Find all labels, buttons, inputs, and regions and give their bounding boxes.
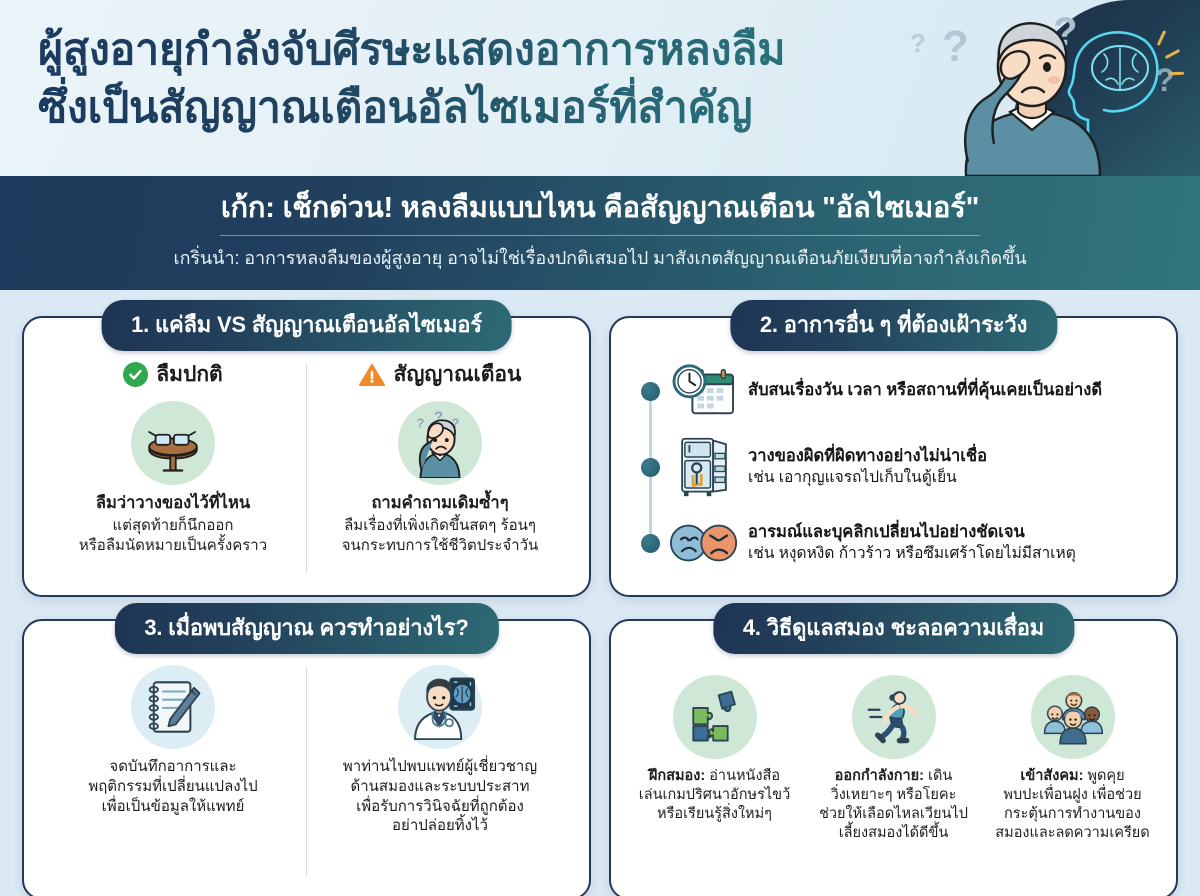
compare-warning-line2: ลืมเรื่องที่เพิ่งเกิดขึ้นสดๆ ร้อนๆ <box>342 516 539 536</box>
headline-banner: เก้ก: เช็กด่วน! หลงลืมแบบไหน คือสัญญาณเต… <box>0 176 1200 290</box>
symptom-sub-3: เช่น หงุดหงิด ก้าวร้าว หรือซึมเศร้าโดยไม… <box>748 544 1076 564</box>
what-to-do-body: จดบันทึกอาการและ พฤติกรรมที่เปลี่ยนแปลงไ… <box>40 655 573 886</box>
mood-faces-icon <box>670 512 738 574</box>
exercise-line2: วิ่งเหยาะๆ หรือโยคะ <box>819 786 968 805</box>
banner-title: เก้ก: เช็กด่วน! หลงลืมแบบไหน คือสัญญาณเต… <box>221 192 979 225</box>
compare-warning-text: ถามคำถามเดิมซ้ำๆ ลืมเรื่องที่เพิ่งเกิดขึ… <box>342 493 539 555</box>
elderly-man-icon <box>942 12 1114 176</box>
confused-elderly-man-icon: ? ? ? <box>398 401 482 485</box>
symptom-main-2: วางของผิดที่ผิดทางอย่างไม่น่าเชื่อ <box>748 446 987 467</box>
list-item: สับสนเรื่องวัน เวลา หรือสถานที่ที่คุ้นเค… <box>637 360 1154 422</box>
section-card-what-to-do: 3. เมื่อพบสัญญาณ ควรทำอย่างไร? <box>22 619 591 896</box>
exercise-keyword: ออกกำลังกาย: <box>835 768 924 784</box>
exercise-line4: เลี้ยงสมองได้ดีขึ้น <box>819 824 968 843</box>
compare-column-normal: ลืมปกติ ลืมว่าวางของไว้ที่ไหน <box>40 358 306 583</box>
banner-subtitle: เกริ่นนำ: อาการหลงลืมของผู้สูงอายุ อาจไม… <box>174 243 1027 272</box>
compare-normal-line2: แต่สุดท้ายก็นึกออก <box>79 516 267 536</box>
compare-normal-line3: หรือลืมนัดหมายเป็นครั้งคราว <box>79 536 267 556</box>
list-item: วางของผิดที่ผิดทางอย่างไม่น่าเชื่อ เช่น … <box>637 436 1154 498</box>
compare-normal-strong: ลืมว่าวางของไว้ที่ไหน <box>79 493 267 515</box>
brain-care-column-exercise: ออกกำลังกาย: เดิน วิ่งเหยาะๆ หรือโยคะ ช่… <box>806 671 981 886</box>
brain-care-train-text: ฝึกสมอง: อ่านหนังสือ เล่นเกมปริศนาอักษรไ… <box>639 767 790 824</box>
train-line2: เล่นเกมปริศนาอักษรไขว้ <box>639 786 790 805</box>
bullet-dot-icon <box>641 382 660 401</box>
notes-line1: จดบันทึกอาการและ <box>88 757 257 777</box>
section-card-compare: 1. แค่ลืม VS สัญญาณเตือนอัลไซเมอร์ ลืมปก… <box>22 316 591 597</box>
social-line4: สมองและลดความเครียด <box>995 824 1149 843</box>
social-line2: พบปะเพื่อนฝูง เพื่อช่วย <box>995 786 1149 805</box>
page-title-line-1: ผู้สูงอายุกำลังจับศีรษะแสดงอาการหลงลืม <box>38 26 785 74</box>
page-title: ผู้สูงอายุกำลังจับศีรษะแสดงอาการหลงลืม ซ… <box>38 22 918 137</box>
doctor-line2: ด้านสมองและระบบประสาท <box>343 777 537 797</box>
notebook-pen-icon <box>131 665 215 749</box>
section-title-3: 3. เมื่อพบสัญญาณ ควรทำอย่างไร? <box>114 603 498 654</box>
compare-warning-label: สัญญาณเตือน <box>394 358 522 391</box>
symptom-text-3: อารมณ์และบุคลิกเปลี่ยนไปอย่างชัดเจน เช่น… <box>748 522 1076 564</box>
what-to-do-column-notes: จดบันทึกอาการและ พฤติกรรมที่เปลี่ยนแปลงไ… <box>40 661 306 886</box>
page-title-line-2: ซึ่งเป็นสัญญาณเตือนอัลไซเมอร์ที่สำคัญ <box>38 80 918 138</box>
section-title-4: 4. วิธีดูแลสมอง ชะลอความเสื่อม <box>713 603 1074 654</box>
compare-warning-strong: ถามคำถามเดิมซ้ำๆ <box>342 493 539 515</box>
group-of-people-icon <box>1031 675 1115 759</box>
brain-care-body: ฝึกสมอง: อ่านหนังสือ เล่นเกมปริศนาอักษรไ… <box>627 655 1160 886</box>
bullet-dot-icon <box>641 534 660 553</box>
doctor-line3: เพื่อรับการวินิจฉัยที่ถูกต้อง <box>343 797 537 817</box>
what-to-do-notes-text: จดบันทึกอาการและ พฤติกรรมที่เปลี่ยนแปลงไ… <box>88 757 257 816</box>
doctor-line4: อย่าปล่อยทิ้งไว้ <box>343 816 537 836</box>
list-item: อารมณ์และบุคลิกเปลี่ยนไปอย่างชัดเจน เช่น… <box>637 512 1154 574</box>
puzzle-pieces-icon <box>673 675 757 759</box>
symptom-text-2: วางของผิดที่ผิดทางอย่างไม่น่าเชื่อ เช่น … <box>748 446 987 488</box>
clock-calendar-icon <box>670 360 738 422</box>
section-title-2: 2. อาการอื่น ๆ ที่ต้องเฝ้าระวัง <box>730 300 1057 351</box>
exercise-line3: ช่วยให้เลือดไหลเวียนไป <box>819 805 968 824</box>
symptom-sub-2: เช่น เอากุญแจรถไปเก็บในตู้เย็น <box>748 468 987 488</box>
banner-divider <box>220 235 980 236</box>
train-keyword: ฝึกสมอง: <box>649 768 705 784</box>
glasses-on-table-icon <box>131 401 215 485</box>
compare-warning-line3: จนกระทบการใช้ชีวิตประจำวัน <box>342 536 539 556</box>
brain-care-column-train: ฝึกสมอง: อ่านหนังสือ เล่นเกมปริศนาอักษรไ… <box>627 671 802 886</box>
train-line1: อ่านหนังสือ <box>705 768 780 784</box>
check-circle-icon <box>123 362 148 387</box>
social-line3: กระตุ้นการทำงานของ <box>995 805 1149 824</box>
doctor-brain-scan-icon <box>398 665 482 749</box>
running-person-icon <box>852 675 936 759</box>
section-title-1: 1. แค่ลืม VS สัญญาณเตือนอัลไซเมอร์ <box>101 300 512 351</box>
compare-column-normal-head: ลืมปกติ <box>123 358 222 391</box>
warning-triangle-icon <box>359 363 386 387</box>
brain-care-social-text: เข้าสังคม: พูดคุย พบปะเพื่อนฝูง เพื่อช่ว… <box>995 767 1149 842</box>
symptom-main-3: อารมณ์และบุคลิกเปลี่ยนไปอย่างชัดเจน <box>748 522 1076 543</box>
notes-line3: เพื่อเป็นข้อมูลให้แพทย์ <box>88 797 257 817</box>
doctor-line1: พาท่านไปพบแพทย์ผู้เชี่ยวชาญ <box>343 757 537 777</box>
compare-column-warning: สัญญาณเตือน ? ? ? <box>307 358 573 583</box>
compare-normal-text: ลืมว่าวางของไว้ที่ไหน แต่สุดท้ายก็นึกออก… <box>79 493 267 555</box>
sections-grid: 1. แค่ลืม VS สัญญาณเตือนอัลไซเมอร์ ลืมปก… <box>0 290 1200 896</box>
what-to-do-column-doctor: พาท่านไปพบแพทย์ผู้เชี่ยวชาญ ด้านสมองและร… <box>307 661 573 886</box>
hero-illustration: ? ? ? ? <box>900 0 1200 176</box>
social-keyword: เข้าสังคม: <box>1020 768 1083 784</box>
fridge-with-keys-icon <box>670 436 738 498</box>
what-to-do-doctor-text: พาท่านไปพบแพทย์ผู้เชี่ยวชาญ ด้านสมองและร… <box>343 757 537 836</box>
compare-body: ลืมปกติ ลืมว่าวางของไว้ที่ไหน <box>40 352 573 583</box>
compare-column-warning-head: สัญญาณเตือน <box>359 358 522 391</box>
svg-text:?: ? <box>417 416 425 430</box>
section-card-brain-care: 4. วิธีดูแลสมอง ชะลอความเสื่อม ฝึกสมอง: … <box>609 619 1178 896</box>
brain-care-column-social: เข้าสังคม: พูดคุย พบปะเพื่อนฝูง เพื่อช่ว… <box>985 671 1160 886</box>
train-line3: หรือเรียนรู้สิ่งใหม่ๆ <box>639 805 790 824</box>
symptom-text-1: สับสนเรื่องวัน เวลา หรือสถานที่ที่คุ้นเค… <box>748 380 1102 401</box>
exercise-line1: เดิน <box>924 768 952 784</box>
brain-care-exercise-text: ออกกำลังกาย: เดิน วิ่งเหยาะๆ หรือโยคะ ช่… <box>819 767 968 842</box>
hero-header: ผู้สูงอายุกำลังจับศีรษะแสดงอาการหลงลืม ซ… <box>0 0 1200 176</box>
compare-normal-label: ลืมปกติ <box>156 358 222 391</box>
symptom-main-1: สับสนเรื่องวัน เวลา หรือสถานที่ที่คุ้นเค… <box>748 380 1102 401</box>
notes-line2: พฤติกรรมที่เปลี่ยนแปลงไป <box>88 777 257 797</box>
question-mark-icon: ? <box>910 28 926 59</box>
social-line1: พูดคุย <box>1083 768 1124 784</box>
section-card-symptoms: 2. อาการอื่น ๆ ที่ต้องเฝ้าระวัง <box>609 316 1178 597</box>
bullet-dot-icon <box>641 458 660 477</box>
symptoms-list: สับสนเรื่องวัน เวลา หรือสถานที่ที่คุ้นเค… <box>627 352 1160 583</box>
spark-icon <box>1169 72 1184 76</box>
